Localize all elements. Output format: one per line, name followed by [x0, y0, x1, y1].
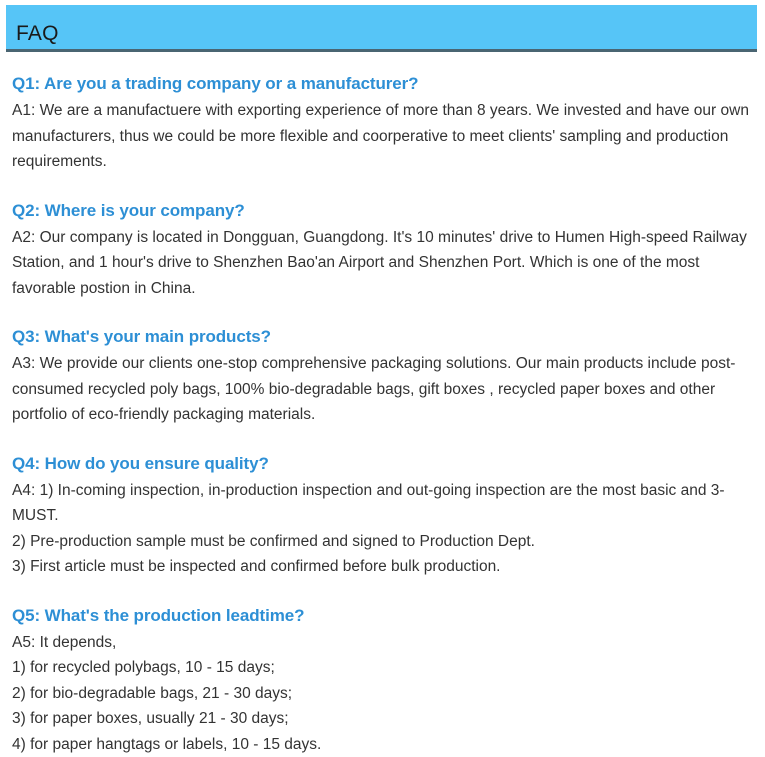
- faq-answer-line: 2) for bio-degradable bags, 21 - 30 days…: [12, 681, 751, 707]
- faq-header-band: FAQ: [6, 5, 757, 52]
- faq-answer: A4: 1) In-coming inspection, in-producti…: [12, 478, 751, 580]
- faq-section: Q2: Where is your company? A2: Our compa…: [12, 199, 751, 302]
- faq-answer-line: A4: 1) In-coming inspection, in-producti…: [12, 478, 751, 529]
- faq-answer-line: A3: We provide our clients one-stop comp…: [12, 351, 751, 428]
- page-title: FAQ: [16, 22, 59, 46]
- faq-section: Q3: What's your main products? A3: We pr…: [12, 325, 751, 428]
- faq-answer: A1: We are a manufactuere with exporting…: [12, 98, 751, 175]
- faq-content: Q1: Are you a trading company or a manuf…: [0, 72, 765, 757]
- faq-question-heading: Q2: Where is your company?: [12, 199, 751, 223]
- faq-question-heading: Q4: How do you ensure quality?: [12, 452, 751, 476]
- faq-answer-line: 1) for recycled polybags, 10 - 15 days;: [12, 655, 751, 681]
- faq-answer-line: A5: It depends,: [12, 630, 751, 656]
- faq-page: FAQ Q1: Are you a trading company or a m…: [0, 5, 765, 753]
- faq-answer: A2: Our company is located in Dongguan, …: [12, 225, 751, 302]
- faq-answer: A5: It depends, 1) for recycled polybags…: [12, 630, 751, 757]
- faq-question-heading: Q3: What's your main products?: [12, 325, 751, 349]
- faq-answer-line: 2) Pre-production sample must be confirm…: [12, 529, 751, 555]
- faq-answer-line: A2: Our company is located in Dongguan, …: [12, 225, 751, 302]
- faq-answer-line: A1: We are a manufactuere with exporting…: [12, 98, 751, 175]
- faq-answer-line: 3) First article must be inspected and c…: [12, 554, 751, 580]
- faq-section: Q5: What's the production leadtime? A5: …: [12, 604, 751, 757]
- faq-question-heading: Q5: What's the production leadtime?: [12, 604, 751, 628]
- faq-answer-line: 3) for paper boxes, usually 21 - 30 days…: [12, 706, 751, 732]
- faq-section: Q4: How do you ensure quality? A4: 1) In…: [12, 452, 751, 580]
- faq-answer-line: 4) for paper hangtags or labels, 10 - 15…: [12, 732, 751, 757]
- faq-question-heading: Q1: Are you a trading company or a manuf…: [12, 72, 751, 96]
- faq-answer: A3: We provide our clients one-stop comp…: [12, 351, 751, 428]
- faq-section: Q1: Are you a trading company or a manuf…: [12, 72, 751, 175]
